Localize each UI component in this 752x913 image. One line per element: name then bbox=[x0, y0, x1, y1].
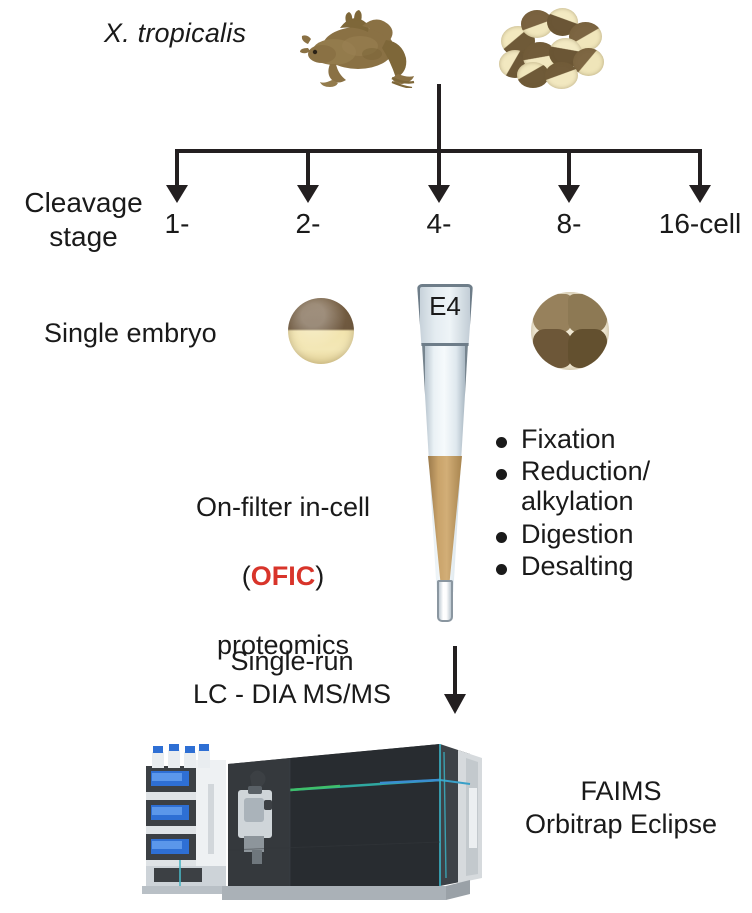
bullet-icon bbox=[496, 469, 507, 480]
ofic-proteomics-label: On-filter in-cell (OFIC) proteomics bbox=[146, 455, 420, 662]
stage-label-4-cell: 4- bbox=[379, 208, 499, 239]
process-step-label: Desalting bbox=[521, 551, 634, 581]
four-cell-embryo-icon bbox=[531, 292, 609, 370]
branch-arrow-1 bbox=[166, 185, 188, 203]
mass-spectrometer-body bbox=[222, 744, 482, 900]
single-cell-embryo-icon bbox=[288, 298, 354, 364]
list-item: Fixation bbox=[496, 424, 746, 454]
lc-arrow-head-icon bbox=[444, 694, 466, 714]
stage-label-1-cell: 1- bbox=[117, 208, 237, 239]
process-step-label: Reduction/ alkylation bbox=[521, 456, 650, 516]
process-step-label: Fixation bbox=[521, 424, 616, 454]
branch-arrow-2 bbox=[297, 185, 319, 203]
lc-dia-msms-label: Single-run LC - DIA MS/MS bbox=[172, 645, 412, 711]
pipette-frit-nozzle bbox=[437, 580, 453, 622]
process-steps-list: Fixation Reduction/ alkylation Digestion… bbox=[496, 424, 746, 583]
graphical-abstract-figure: X. tropicalis bbox=[0, 0, 752, 913]
pipette-sample-label: E4 bbox=[417, 292, 473, 321]
lc-stack bbox=[142, 744, 228, 894]
ofic-close-paren: ) bbox=[315, 561, 324, 591]
ofic-line-1: On-filter in-cell bbox=[196, 492, 370, 522]
branch-arrow-5 bbox=[689, 185, 711, 203]
lc-arrow-stem bbox=[453, 646, 457, 698]
list-item: Desalting bbox=[496, 551, 746, 581]
faims-orbitrap-label: FAIMS Orbitrap Eclipse bbox=[498, 775, 744, 841]
branch-arrow-3 bbox=[428, 185, 450, 203]
lc-mass-spectrometer-icon bbox=[140, 728, 492, 910]
list-item: Reduction/ alkylation bbox=[496, 456, 746, 516]
bullet-icon bbox=[496, 532, 507, 543]
branch-stem-5 bbox=[698, 149, 702, 186]
stage-label-8-cell: 8- bbox=[509, 208, 629, 239]
bullet-icon bbox=[496, 437, 507, 448]
stage-label-16-cell: 16-cell bbox=[633, 208, 752, 239]
process-step-label: Digestion bbox=[521, 519, 634, 549]
branch-stem-2 bbox=[306, 149, 310, 186]
filter-pipette-tip-icon: E4 bbox=[412, 284, 478, 624]
ofic-acronym: OFIC bbox=[251, 561, 316, 591]
ofic-open-paren: ( bbox=[242, 561, 251, 591]
branch-stem-3 bbox=[437, 149, 441, 186]
trunk-connector-line bbox=[437, 84, 441, 152]
species-label: X. tropicalis bbox=[104, 18, 246, 48]
frog-icon bbox=[300, 6, 422, 88]
single-embryo-label: Single embryo bbox=[44, 318, 217, 348]
list-item: Digestion bbox=[496, 519, 746, 549]
branch-arrow-4 bbox=[558, 185, 580, 203]
branch-stem-1 bbox=[175, 149, 179, 186]
stage-label-2-cell: 2- bbox=[248, 208, 368, 239]
bullet-icon bbox=[496, 564, 507, 575]
branch-stem-4 bbox=[567, 149, 571, 186]
embryo-cluster-icon bbox=[497, 6, 609, 90]
